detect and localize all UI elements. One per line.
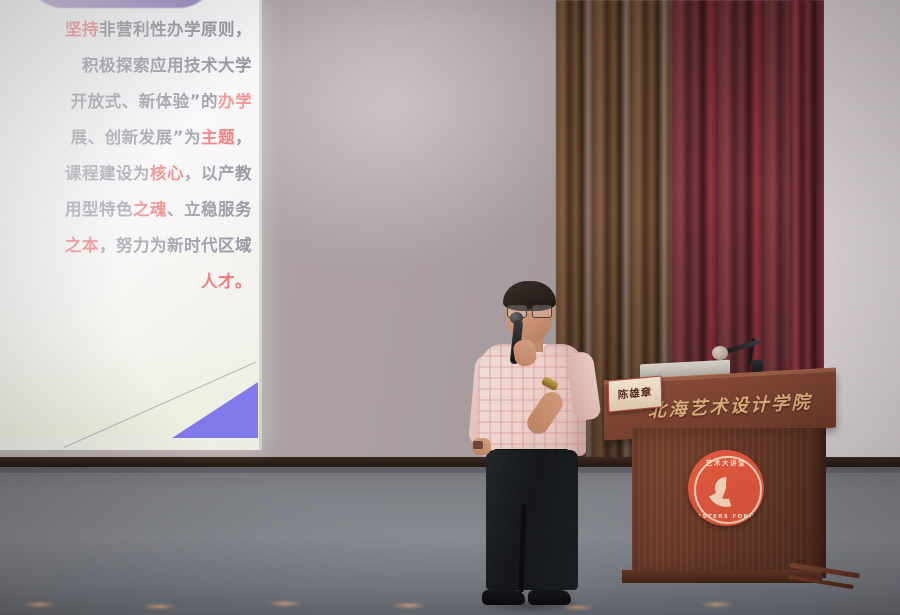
slide-text-run: 办学 xyxy=(218,92,252,111)
podium-microphone-gooseneck xyxy=(726,339,760,353)
slide-text-run: 之本 xyxy=(65,236,99,255)
podium-side-panel xyxy=(808,428,826,578)
slide-text-run: 坚持 xyxy=(65,20,99,39)
speaker-right-shoe xyxy=(528,590,571,605)
slide-line: 用型特色之魂、立稳服务 xyxy=(0,192,258,228)
slide-text-run: 积极探索应用技术大学 xyxy=(82,56,252,75)
emblem-chinese-text: 艺术大讲堂 xyxy=(688,457,764,467)
slide-text-run: 开放式、新体验”的 xyxy=(71,92,218,111)
floor-light-spot xyxy=(142,604,176,609)
presentation-clicker xyxy=(473,441,483,449)
floor-light-spot xyxy=(392,603,426,608)
slide-line: 之本，努力为新时代区域 xyxy=(0,228,258,264)
speaker-figure xyxy=(470,278,600,615)
floor-light-spot xyxy=(22,602,56,607)
slide-text-run: 非营利性办学原则， xyxy=(99,20,252,39)
slide-purple-shape xyxy=(28,0,218,8)
screen-right-edge xyxy=(259,0,262,450)
projection-screen: 坚持非营利性办学原则，积极探索应用技术大学开放式、新体验”的办学展、创新发展”为… xyxy=(0,0,262,450)
floor-light-spot xyxy=(268,601,302,606)
slide-text-block: 坚持非营利性办学原则，积极探索应用技术大学开放式、新体验”的办学展、创新发展”为… xyxy=(0,12,262,300)
slide-line: 积极探索应用技术大学 xyxy=(0,48,258,84)
slide-text-run: ，努力为新时代区域 xyxy=(99,236,252,255)
speaker-left-shoe xyxy=(482,590,525,605)
speaker-name-placard: 陈雄章 xyxy=(608,375,663,412)
slide-text-run: ，以产教 xyxy=(184,164,252,183)
emblem-english-text: MASTERS FORUM xyxy=(688,514,764,520)
lecture-photo-scene: 坚持非营利性办学原则，积极探索应用技术大学开放式、新体验”的办学展、创新发展”为… xyxy=(0,0,900,615)
slide-text-run: 人才。 xyxy=(201,272,252,291)
slide-text-run: 之魂 xyxy=(133,200,167,219)
slide-text-run: ， xyxy=(235,128,252,147)
slide-text-run: 核心 xyxy=(150,164,184,183)
floor-light-spot xyxy=(700,602,734,607)
slide-text-run: 主题 xyxy=(201,128,235,147)
slide-text-run: 展、创新发展”为 xyxy=(71,128,201,147)
speaker-trousers xyxy=(486,450,578,590)
slide-text-run: 用型特色 xyxy=(65,200,133,219)
slide-line: 开放式、新体验”的办学 xyxy=(0,84,258,120)
slide-line: 人才。 xyxy=(0,264,258,300)
slide-line: 展、创新发展”为主题， xyxy=(0,120,258,156)
slide-blue-triangle xyxy=(172,382,258,438)
emblem-spiral-core-icon xyxy=(715,477,737,499)
slide-text-run: 课程建设为 xyxy=(65,164,150,183)
masters-forum-emblem: 艺术大讲堂 MASTERS FORUM xyxy=(688,450,764,526)
speaker-name-text: 陈雄章 xyxy=(618,387,653,401)
slide-line: 课程建设为核心，以产教 xyxy=(0,156,258,192)
podium-microphone-head xyxy=(712,346,728,360)
slide-text-run: 、立稳服务 xyxy=(167,200,252,219)
lectern-podium: 北海艺术设计学院 陈雄章 艺术大讲堂 MASTERS FORUM xyxy=(600,332,836,592)
slide-line: 坚持非营利性办学原则， xyxy=(0,12,258,48)
